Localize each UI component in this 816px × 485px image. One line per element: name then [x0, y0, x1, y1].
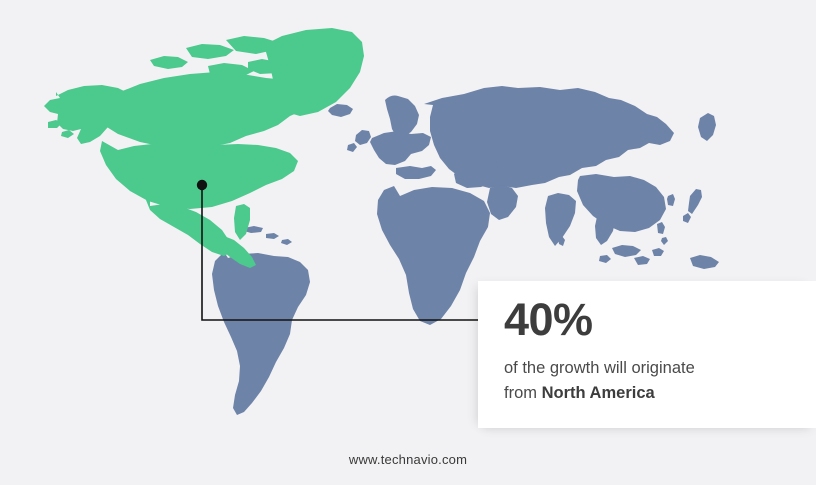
region-scandinavia — [385, 96, 419, 138]
region-united-states — [100, 141, 298, 209]
map-region-north-america-highlight — [44, 28, 364, 268]
infographic-root: 40% of the growth will originate from No… — [0, 0, 816, 480]
region-africa — [377, 186, 490, 325]
callout-card: 40% of the growth will originate from No… — [478, 281, 816, 428]
region-korea — [667, 194, 675, 206]
callout-line-2-prefix: from — [504, 384, 542, 402]
region-iceland — [328, 104, 353, 117]
region-philippines — [657, 222, 668, 245]
region-kamchatka — [698, 113, 716, 141]
region-east-asia — [577, 174, 666, 232]
region-south-america — [212, 252, 310, 415]
footer-url: www.technavio.com — [0, 452, 816, 467]
region-british-isles — [347, 130, 371, 152]
callout-region-emphasis: North America — [542, 384, 655, 402]
region-indonesia — [599, 245, 664, 265]
region-caribbean — [244, 226, 292, 245]
region-europe — [370, 131, 436, 179]
callout-description: of the growth will originate from North … — [504, 356, 794, 406]
region-papua — [690, 255, 719, 269]
callout-value: 40% — [504, 297, 816, 342]
callout-line-1: of the growth will originate — [504, 359, 695, 377]
region-sri-lanka — [558, 236, 565, 246]
region-florida — [234, 204, 250, 240]
region-arabia — [487, 185, 518, 220]
region-japan — [683, 189, 702, 223]
region-southeast-asia — [595, 209, 615, 245]
